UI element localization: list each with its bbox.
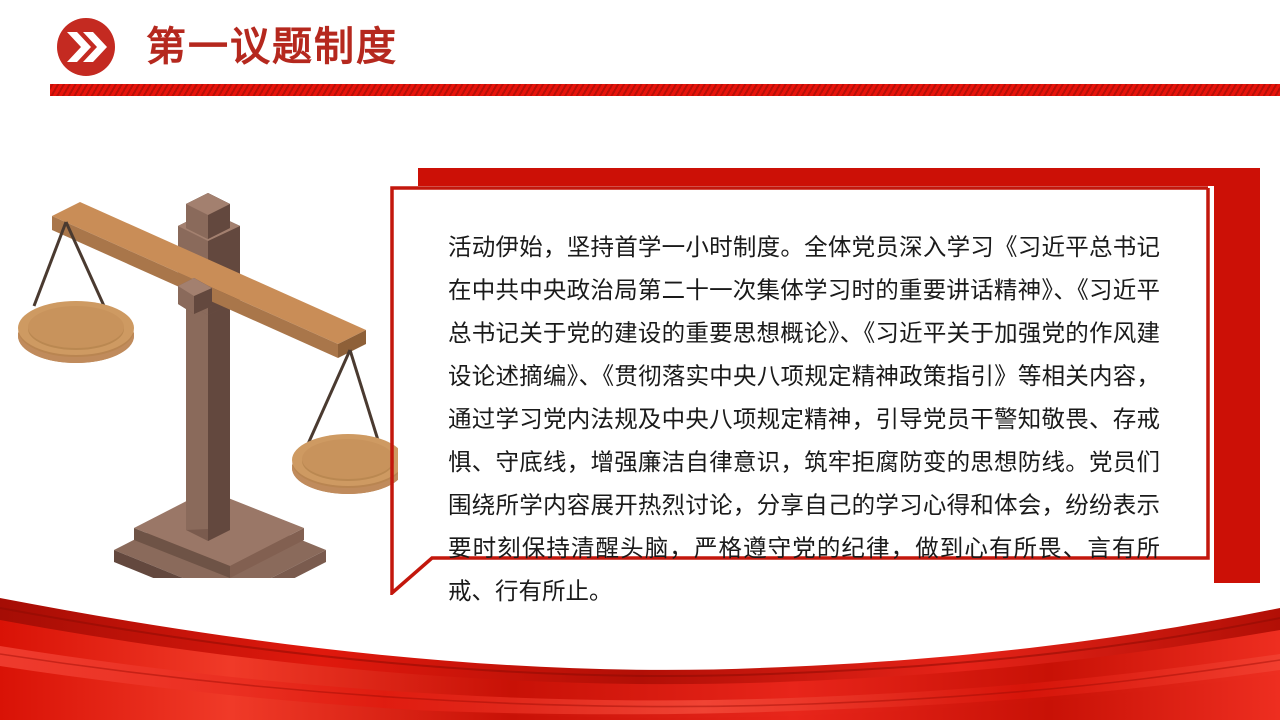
balance-scale-illustration bbox=[18, 178, 398, 578]
scale-right-pan bbox=[292, 434, 398, 494]
speech-bubble-callout: 活动伊始，坚持首学一小时制度。全体党员深入学习《习近平总书记在中共中央政治局第二… bbox=[390, 168, 1260, 608]
callout-top-accent-bar bbox=[418, 168, 1260, 186]
page-title: 第一议题制度 bbox=[146, 20, 398, 74]
header-divider-rule bbox=[50, 84, 1280, 96]
scale-left-pan bbox=[18, 301, 134, 363]
red-silk-ribbon-decoration bbox=[0, 590, 1280, 720]
callout-right-accent-bar bbox=[1214, 168, 1260, 583]
slide-header: 第一议题制度 bbox=[0, 0, 1280, 110]
slide-root: 第一议题制度 bbox=[0, 0, 1280, 720]
double-chevron-right-icon bbox=[57, 18, 115, 76]
callout-body-text: 活动伊始，坚持首学一小时制度。全体党员深入学习《习近平总书记在中共中央政治局第二… bbox=[448, 226, 1160, 613]
